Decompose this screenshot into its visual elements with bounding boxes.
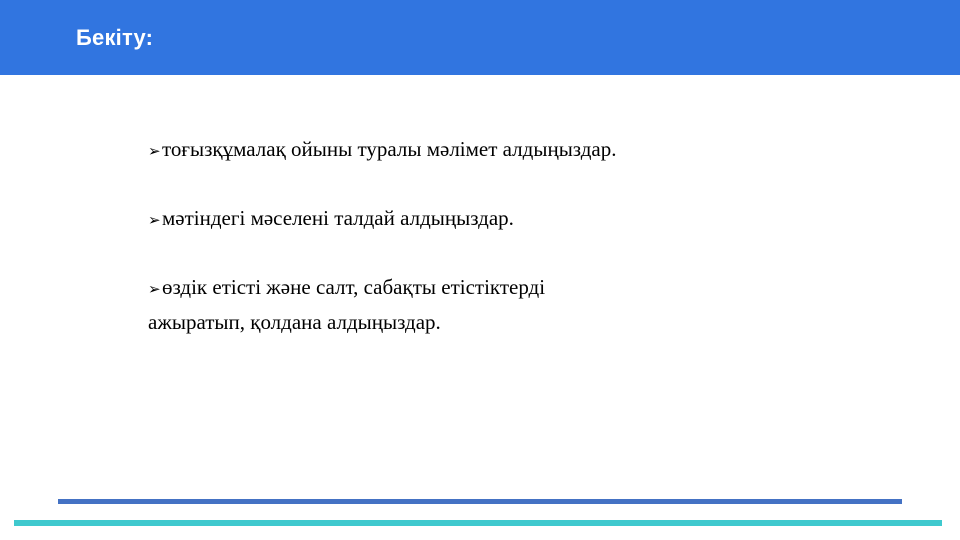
list-item: ➢өздік етісті және салт, сабақты етістік… — [148, 271, 908, 339]
list-item-text: мәтіндегі мәселені талдай алдыңыздар. — [162, 206, 514, 230]
arrow-bullet-icon: ➢ — [148, 135, 162, 168]
header-banner: Бекіту: — [0, 0, 960, 75]
list-item: ➢мәтіндегі мәселені талдай алдыңыздар. — [148, 202, 908, 237]
decorative-bar-teal — [14, 520, 942, 526]
decorative-bar-blue — [58, 499, 902, 504]
list-item: ➢тоғызқұмалақ ойыны туралы мәлімет алдың… — [148, 133, 908, 168]
arrow-bullet-icon: ➢ — [148, 204, 162, 237]
page-title: Бекіту: — [76, 25, 153, 51]
list-item-text-continued: ажыратып, қолдана алдыңыздар. — [148, 306, 908, 339]
list-item-text: тоғызқұмалақ ойыны туралы мәлімет алдыңы… — [162, 137, 616, 161]
bullet-list: ➢тоғызқұмалақ ойыны туралы мәлімет алдың… — [148, 133, 908, 339]
slide-canvas: Бекіту: ➢тоғызқұмалақ ойыны туралы мәлім… — [0, 0, 960, 540]
arrow-bullet-icon: ➢ — [148, 273, 162, 306]
list-item-text: өздік етісті және салт, сабақты етістікт… — [162, 275, 545, 299]
